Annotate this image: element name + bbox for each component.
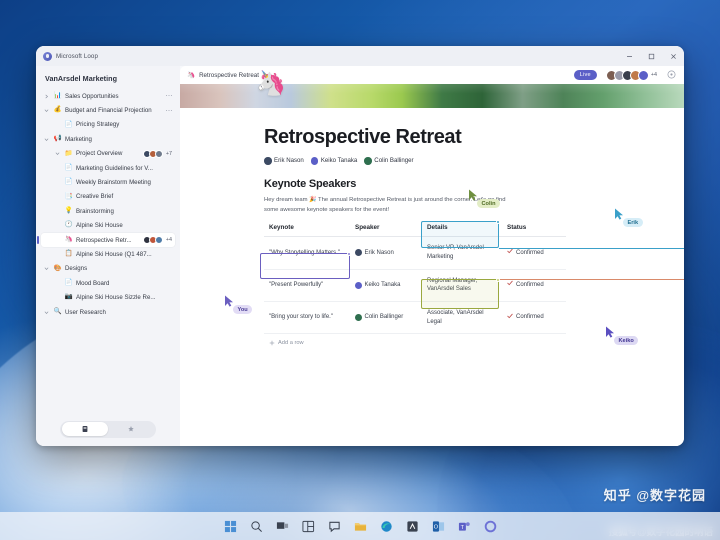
sidebar-item-weekly-brainstorm-meeting[interactable]: 📄 Weekly Brainstorm Meeting: [41, 175, 175, 189]
sidebar-item-label: Alpine Ski House: [76, 222, 172, 229]
person-chip[interactable]: Keiko Tanaka: [311, 157, 357, 165]
avatar: [638, 70, 649, 81]
sidebar-item-label: Mood Board: [76, 280, 172, 287]
ideas-icon[interactable]: [108, 422, 155, 436]
cell-speaker[interactable]: Keiko Tanaka: [350, 269, 422, 301]
sidebar-item-alpine-sizzle-reel[interactable]: 📷 Alpine Ski House Sizzle Re...: [41, 290, 175, 304]
cell-keynote[interactable]: "Bring your story to life.": [264, 301, 350, 333]
cursor-label: Erik: [623, 218, 643, 227]
sidebar-item-label: Marketing Guidelines for V...: [76, 165, 172, 172]
speaker-name: Erik Nason: [365, 249, 394, 258]
sidebar-item-label: Weekly Brainstorm Meeting: [76, 179, 172, 186]
edge-icon[interactable]: [379, 519, 394, 534]
person-chip[interactable]: Erik Nason: [264, 157, 304, 165]
header-avatar-group[interactable]: +4: [606, 70, 657, 81]
chart-icon: 📊: [53, 92, 62, 101]
cursor-label: Colin: [477, 199, 500, 208]
app-identity: Microsoft Loop: [43, 52, 98, 61]
avatar: [355, 249, 362, 256]
sidebar-item-budget-and-financial-projection[interactable]: 💰 Budget and Financial Projection ⋯: [41, 103, 175, 117]
status-label: Confirmed: [516, 281, 544, 290]
sidebar-item-label: Marketing: [65, 136, 172, 143]
sidebar-item-retrospective-retreat[interactable]: 🦄 Retrospective Retr... +4: [41, 233, 175, 247]
page-icon: 📄: [64, 178, 73, 187]
loop-icon[interactable]: [483, 519, 498, 534]
teams-icon[interactable]: T: [457, 519, 472, 534]
more-options-icon[interactable]: ⋯: [166, 92, 173, 100]
list-icon: 📋: [64, 250, 73, 259]
person-name: Colin Ballinger: [374, 157, 413, 164]
chevron-down-icon[interactable]: [42, 137, 50, 142]
section-title: Keynote Speakers: [264, 178, 618, 190]
sidebar-item-designs[interactable]: 🎨 Designs: [41, 262, 175, 276]
people-chips: Erik Nason Keiko Tanaka Colin Ballinger: [264, 157, 618, 165]
more-options-icon[interactable]: [667, 66, 676, 84]
cell-speaker[interactable]: Erik Nason: [350, 237, 422, 269]
sidebar-item-label: Alpine Ski House (Q1 487...: [76, 251, 172, 258]
money-icon: 💰: [53, 106, 62, 115]
sidebar-item-label: Project Overview: [76, 150, 140, 157]
cell-status[interactable]: Confirmed: [502, 269, 566, 301]
cell-speaker[interactable]: Colin Ballinger: [350, 301, 422, 333]
live-badge[interactable]: Live: [574, 70, 597, 79]
sidebar: VanArsdel Marketing 📊 Sales Opportunitie…: [36, 66, 180, 446]
avatar-group[interactable]: +4: [143, 236, 172, 244]
sidebar-item-label: Pricing Strategy: [76, 121, 172, 128]
avatar-overflow-count: +4: [166, 237, 172, 243]
document-content: Retrospective Retreat Erik Nason Keiko T…: [180, 108, 684, 446]
chat-icon[interactable]: [327, 519, 342, 534]
sidebar-footer: [36, 412, 180, 446]
start-icon[interactable]: [223, 519, 238, 534]
avatar: [155, 150, 163, 158]
sidebar-item-mood-board[interactable]: 📄 Mood Board: [41, 276, 175, 290]
cursor-arrow-icon: [605, 326, 615, 338]
unicorn-icon: 🦄: [64, 236, 73, 245]
sidebar-item-label: Brainstorming: [76, 208, 172, 215]
column-header-status: Status: [502, 224, 566, 237]
window-controls: [618, 46, 684, 66]
cursor-arrow-icon: [468, 189, 478, 201]
board-icon: 📄: [64, 279, 73, 288]
widgets-icon[interactable]: [301, 519, 316, 534]
cursor-arrow-icon: [614, 208, 624, 220]
folder-icon: 📁: [64, 149, 73, 158]
person-name: Keiko Tanaka: [321, 157, 357, 164]
avatar-overflow-count: +4: [651, 72, 657, 78]
chevron-down-icon[interactable]: [42, 108, 50, 113]
column-header-speaker: Speaker: [350, 224, 422, 237]
confirmed-check-icon: [507, 280, 513, 290]
sidebar-item-label: Designs: [65, 265, 172, 272]
sidebar-item-label: Alpine Ski House Sizzle Re...: [76, 294, 172, 301]
sidebar-item-brainstorming[interactable]: 💡 Brainstorming: [41, 204, 175, 218]
loop-logo-icon: [43, 52, 52, 61]
column-header-details: Details: [422, 224, 502, 237]
document-header-title: Retrospective Retreat: [199, 72, 259, 79]
doc-icon: 📑: [64, 192, 73, 201]
sidebar-item-label: Creative Brief: [76, 193, 172, 200]
svg-text:O: O: [433, 524, 438, 530]
windows-taskbar: O T: [0, 512, 720, 540]
speaker-name: Keiko Tanaka: [365, 281, 401, 290]
cell-keynote[interactable]: "Present Powerfully": [264, 269, 350, 301]
cell-status[interactable]: Confirmed: [502, 237, 566, 269]
document-emoji-icon[interactable]: 🦄: [256, 72, 286, 96]
search-icon[interactable]: [249, 519, 264, 534]
chevron-down-icon[interactable]: [53, 151, 61, 156]
sidebar-item-marketing[interactable]: 📢 Marketing: [41, 132, 175, 146]
workspace-title: VanArsdel Marketing: [36, 71, 180, 89]
table-row[interactable]: "Why Storytelling Matters." Erik Nason S…: [264, 237, 566, 269]
sidebar-item-label: Retrospective Retr...: [76, 237, 140, 244]
sidebar-item-alpine-ski-house-q1[interactable]: 📋 Alpine Ski House (Q1 487...: [41, 247, 175, 261]
chevron-down-icon[interactable]: [42, 310, 50, 315]
sidebar-item-label: User Research: [65, 309, 172, 316]
maximize-button[interactable]: [640, 46, 662, 66]
cell-keynote[interactable]: "Why Storytelling Matters.": [264, 237, 350, 269]
table-row[interactable]: "Present Powerfully" Keiko Tanaka Region…: [264, 269, 566, 301]
sidebar-nav: 📊 Sales Opportunities ⋯ 💰 Budget and Fin…: [36, 89, 180, 412]
watermark-zhihu: 知乎 @数字花园: [604, 485, 706, 504]
confirmed-check-icon: [507, 313, 513, 323]
cursor-colin: Colin: [468, 188, 478, 206]
page-icon: 📄: [64, 164, 73, 173]
page-icon: 📄: [64, 120, 73, 129]
sidebar-item-label: Budget and Financial Projection: [65, 107, 163, 114]
bulb-icon: 💡: [64, 207, 73, 216]
design-icon: 🎨: [53, 264, 62, 273]
status-label: Confirmed: [516, 249, 544, 258]
avatar: [355, 314, 362, 321]
cell-status[interactable]: Confirmed: [502, 301, 566, 333]
speaker-name: Colin Ballinger: [365, 313, 404, 322]
video-icon: 📷: [64, 293, 73, 302]
person-name: Erik Nason: [274, 157, 304, 164]
cursor-line-erik: [499, 248, 684, 249]
outlook-icon[interactable]: O: [431, 519, 446, 534]
cell-details[interactable]: Associate, VanArsdel Legal: [422, 301, 502, 333]
avatar: [155, 236, 163, 244]
avatar: [311, 157, 319, 165]
chevron-down-icon[interactable]: [42, 266, 50, 271]
pages-icon[interactable]: [62, 422, 109, 436]
sidebar-item-user-research[interactable]: 🔍 User Research: [41, 305, 175, 319]
chevron-right-icon[interactable]: [42, 94, 50, 99]
column-header-keynote: Keynote: [264, 224, 350, 237]
app-title: Microsoft Loop: [56, 53, 98, 60]
close-button[interactable]: [662, 46, 684, 66]
sidebar-item-label: Sales Opportunities: [65, 93, 163, 100]
sidebar-item-project-overview[interactable]: 📁 Project Overview +7: [41, 147, 175, 161]
svg-text:T: T: [460, 524, 464, 530]
clock-icon: 🕐: [64, 221, 73, 230]
taskview-icon[interactable]: [275, 519, 290, 534]
sidebar-item-marketing-guidelines[interactable]: 📄 Marketing Guidelines for V...: [41, 161, 175, 175]
avatar: [364, 157, 372, 165]
explorer-icon[interactable]: [353, 519, 368, 534]
cell-details[interactable]: Senior VP, VanArsdel Marketing: [422, 237, 502, 269]
sidebar-view-toggle[interactable]: [60, 421, 156, 438]
table-row[interactable]: "Bring your story to life." Colin Ballin…: [264, 301, 566, 333]
confirmed-check-icon: [507, 248, 513, 258]
person-chip[interactable]: Colin Ballinger: [364, 157, 413, 165]
status-label: Confirmed: [516, 313, 544, 322]
sidebar-item-alpine-ski-house[interactable]: 🕐 Alpine Ski House: [41, 219, 175, 233]
avatar: [355, 282, 362, 289]
sidebar-item-sales-opportunities[interactable]: 📊 Sales Opportunities ⋯: [41, 89, 175, 103]
table-header-row: Keynote Speaker Details Status: [264, 224, 566, 237]
cursor-arrow-icon: [224, 295, 234, 307]
add-row-button[interactable]: Add a row: [264, 340, 618, 346]
megaphone-icon: 📢: [53, 135, 62, 144]
avatar-group[interactable]: +7: [143, 150, 172, 158]
cursor-keiko: Keiko: [605, 325, 615, 343]
cursor-erik: Erik: [614, 207, 624, 225]
page-title: Retrospective Retreat: [264, 126, 618, 148]
add-row-label: Add a row: [278, 340, 304, 346]
window-titlebar: Microsoft Loop: [36, 46, 684, 66]
sidebar-item-pricing-strategy[interactable]: 📄 Pricing Strategy: [41, 118, 175, 132]
loop-app-window: Microsoft Loop VanArsdel Marketing: [36, 46, 684, 446]
avatar-overflow-count: +7: [166, 151, 172, 157]
cursor-you: You: [224, 294, 234, 312]
more-options-icon[interactable]: ⋯: [166, 107, 173, 115]
cell-details[interactable]: Regional Manager, VanArsdel Sales: [422, 269, 502, 301]
sidebar-item-creative-brief[interactable]: 📑 Creative Brief: [41, 190, 175, 204]
minimize-button[interactable]: [618, 46, 640, 66]
store-icon[interactable]: [405, 519, 420, 534]
cursor-label: You: [233, 305, 252, 314]
document-pane: 🦄 Retrospective Retreat Live +4: [180, 66, 684, 446]
unicorn-icon: 🦄: [187, 71, 195, 79]
research-icon: 🔍: [53, 308, 62, 317]
cursor-label: Keiko: [614, 336, 638, 345]
cursor-line-keiko: [499, 279, 684, 280]
avatar: [264, 157, 272, 165]
